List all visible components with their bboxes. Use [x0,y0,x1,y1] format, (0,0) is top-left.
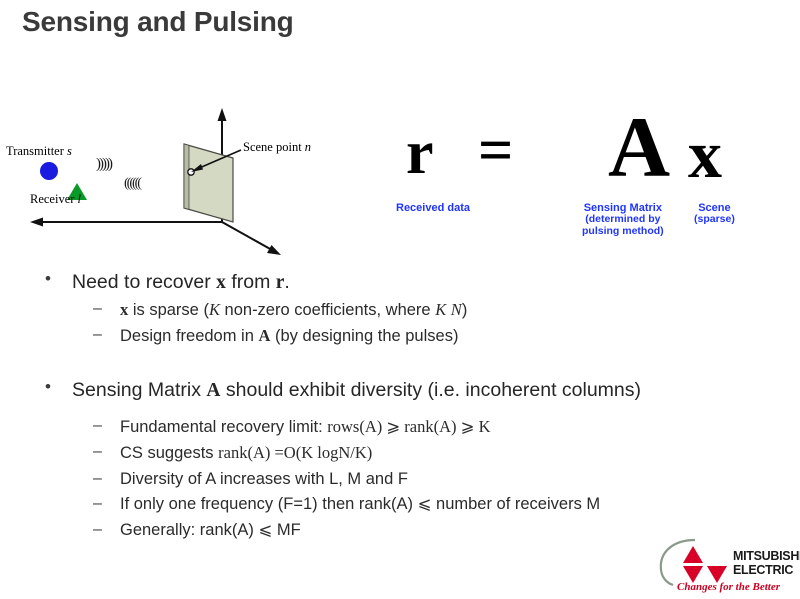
subbullet-design-a: A [259,326,271,345]
caption-scene: Scene (sparse) [694,202,735,226]
transmitter-marker [40,162,58,180]
axis-depth [222,222,272,250]
bullet-need-x: x [216,272,226,293]
scene-point-label-text: Scene point [243,140,302,154]
slide-root: Sensing and Pulsing [0,0,800,599]
diagram-svg [0,100,360,265]
equation-operator: = [478,120,513,182]
equation-block: r = A x Received data Sensing Matrix (de… [392,112,792,232]
transmit-wave-icon: ))))) [96,156,111,173]
subbullet-sparse-t1: is sparse ( [128,301,209,319]
subbullet-cs-expr: rank(A) =O(K logN/K) [218,443,372,462]
logo-text-line1: MITSUBISHI [733,549,800,563]
axis-depth-arrowhead [267,245,281,255]
scene-plane [184,144,233,222]
mitsubishi-electric-logo: MITSUBISHI ELECTRIC Changes for the Bett… [655,538,800,596]
subbullet-design-freedom: Design freedom in A (by designing the pu… [0,325,800,347]
transmitter-label: Transmitter s [6,144,72,159]
logo-text-line2: ELECTRIC [733,563,793,577]
subsection-spacer [0,407,800,416]
transmitter-label-text: Transmitter [6,144,64,158]
bullet-need-mid: from [226,271,276,293]
subbullet-sparse-x: x [120,300,128,319]
subbullet-cs-suggests: CS suggests rank(A) =O(K logN/K) [0,442,800,464]
subbullet-diversity-increases: Diversity of A increases with L, M and F [0,469,800,490]
subbullet-recovery-label: Fundamental recovery limit: [120,418,327,436]
subbullet-sparse-k1: K [209,300,220,319]
bullet-need-pre: Need to recover [72,271,216,293]
sensing-geometry-diagram: Transmitter s Receiver l Scene point n )… [0,100,360,265]
subbullet-sparse-t2: non-zero coefficients, where [220,301,435,319]
receiver-label-text: Receiver [30,192,74,206]
receiver-label: Receiver l [30,192,81,207]
subbullet-design-pre: Design freedom in [120,327,259,345]
bullet-need-post: . [284,271,289,293]
logo-diamond-mark [683,546,727,583]
logo-tagline: Changes for the Better [677,581,781,593]
logo-svg: MITSUBISHI ELECTRIC Changes for the Bett… [655,538,800,596]
caption-sensing-line3: pulsing method) [582,226,664,238]
receive-wave-icon: (((((( [124,176,140,192]
equation-vector-x: x [688,120,722,188]
bullet-diversity-a: A [206,380,220,401]
receiver-index: l [78,192,81,206]
caption-received-data-text: Received data [396,202,470,214]
scene-point-label: Scene point n [243,140,311,155]
caption-scene-line2: (sparse) [694,214,735,226]
caption-received-data: Received data [396,202,470,214]
transmitter-index: s [67,144,72,158]
section-spacer [0,352,800,378]
scene-point-index: n [305,140,311,154]
bullet-need-to-recover: Need to recover x from r. [0,270,800,296]
subbullet-sparse-k2: K [435,300,446,319]
page-title: Sensing and Pulsing [22,6,294,38]
axis-vertical-arrowhead [218,108,227,121]
axis-horizontal-arrowhead [30,218,43,227]
subbullet-recovery-expr: rows(A) ⩾ rank(A) ⩾ K [327,417,490,436]
bullet-sensing-matrix-diversity: Sensing Matrix A should exhibit diversit… [0,378,800,404]
subbullet-x-is-sparse: x is sparse (K non-zero coefficients, wh… [0,299,800,321]
equation-matrix-a: A [608,104,670,190]
equation-lhs-r: r [406,122,434,184]
subbullet-cs-label: CS suggests [120,444,218,462]
subbullet-recovery-limit: Fundamental recovery limit: rows(A) ⩾ ra… [0,416,800,438]
bullet-diversity-pre: Sensing Matrix [72,379,206,401]
body-content: Need to recover x from r. x is sparse (K… [0,270,800,545]
subbullet-sparse-t4: ) [462,301,468,319]
caption-sensing-matrix: Sensing Matrix (determined by pulsing me… [582,202,664,238]
subbullet-one-frequency: If only one frequency (F=1) then rank(A)… [0,494,800,515]
subbullet-design-post: (by designing the pulses) [270,327,458,345]
bullet-diversity-post: should exhibit diversity (i.e. incoheren… [220,379,641,401]
scene-plane-edge [184,144,189,209]
subbullet-sparse-n: N [451,300,462,319]
